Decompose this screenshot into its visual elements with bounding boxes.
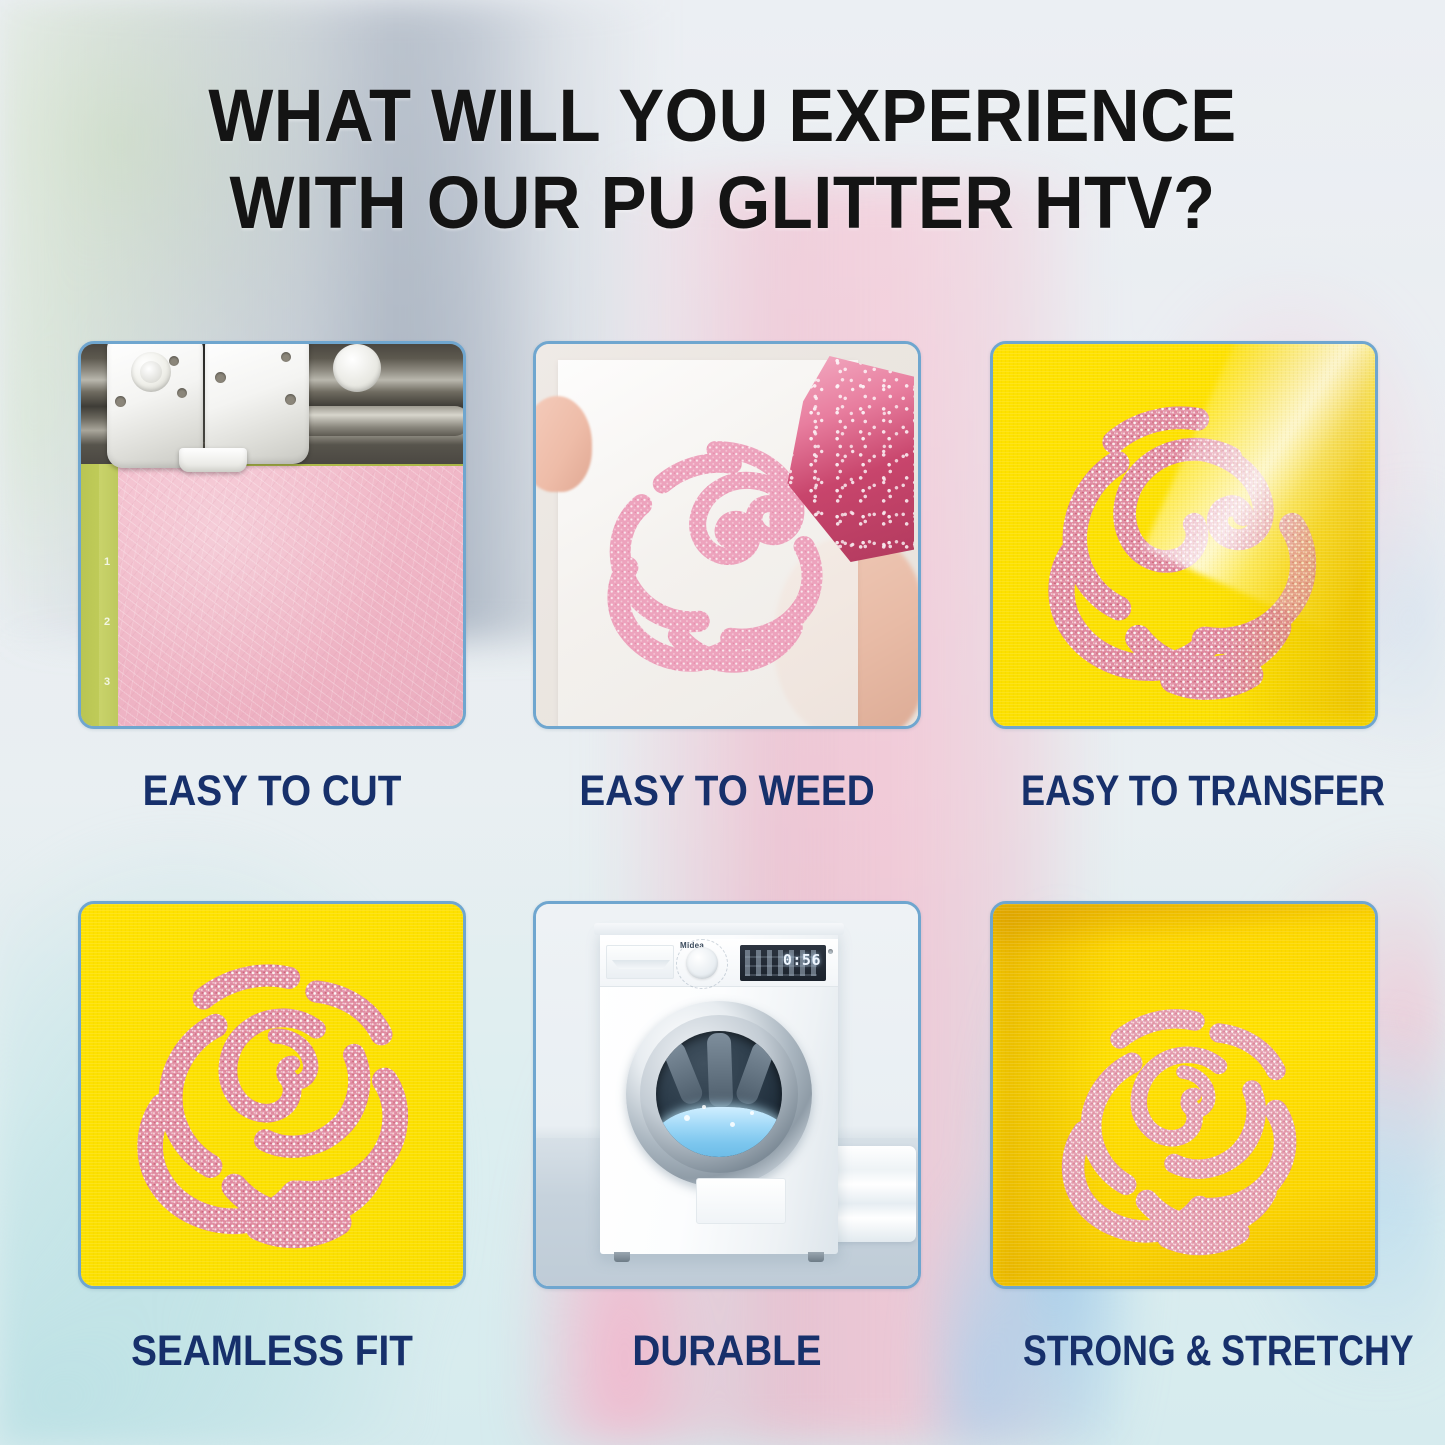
pink-glitter-vinyl-sheet — [118, 466, 466, 729]
door-inner-ring — [640, 1015, 798, 1173]
thumbnail-durable[interactable]: Midea 0:56 — [533, 901, 921, 1289]
rose-design-glitter — [101, 930, 443, 1272]
feature-grid: 1 2 3 — [0, 0, 1445, 1445]
screw-dot — [215, 372, 226, 383]
washing-machine-body: Midea 0:56 — [600, 929, 838, 1254]
cutter-carriage-head — [105, 341, 321, 478]
drum-paddle — [707, 1033, 734, 1108]
control-panel: Midea 0:56 — [600, 939, 838, 987]
carriage-right-housing — [205, 341, 309, 464]
screw-dot — [281, 352, 291, 362]
scene-stretchy-fabric — [993, 904, 1375, 1286]
fabric-shading-right — [1225, 344, 1375, 726]
bubble — [750, 1111, 754, 1115]
bubble — [684, 1115, 690, 1121]
display-time-value: 0:56 — [783, 951, 821, 969]
tool-holder-knob — [131, 352, 171, 392]
door-outer-ring[interactable] — [626, 1001, 812, 1187]
screw-dot — [115, 396, 126, 407]
machine-top-lid — [594, 923, 844, 935]
thumbnail-easy-to-transfer[interactable] — [990, 341, 1378, 729]
screw-dot — [177, 388, 187, 398]
display-screen: 0:56 — [740, 945, 826, 981]
screw-dot — [169, 356, 179, 366]
feature-cell-seamless-fit: SEAMLESS FIT — [78, 901, 466, 1376]
carriage-foot — [179, 448, 247, 472]
blade-housing-dial — [333, 344, 381, 392]
thumbnail-strong-and-stretchy[interactable] — [990, 901, 1378, 1289]
caption-strong-and-stretchy: STRONG & STRETCHY — [1023, 1327, 1345, 1376]
bubble — [730, 1122, 735, 1127]
water-in-drum — [656, 1107, 782, 1157]
scene-seamless-fit — [81, 904, 463, 1286]
infographic-page: WHAT WILL YOU EXPERIENCE WITH OUR PU GLI… — [0, 0, 1445, 1445]
caption-seamless-fit: SEAMLESS FIT — [97, 1327, 446, 1376]
fabric-fold-highlight — [990, 901, 1378, 1027]
feature-cell-easy-to-transfer: EASY TO TRANSFER — [990, 341, 1378, 816]
machine-foot — [808, 1252, 824, 1262]
feature-cell-durable: Midea 0:56 — [533, 901, 921, 1376]
detergent-drawer[interactable] — [606, 945, 674, 979]
caption-easy-to-cut: EASY TO CUT — [97, 767, 446, 816]
fabric-shading-left — [993, 904, 1113, 1286]
thumbnail-easy-to-weed[interactable] — [533, 341, 921, 729]
bubble — [702, 1105, 706, 1109]
drum-paddle — [734, 1039, 777, 1107]
feature-cell-easy-to-weed: EASY TO WEED — [533, 341, 921, 816]
thumbnail-easy-to-cut[interactable]: 1 2 3 — [78, 341, 466, 729]
power-indicator — [828, 949, 833, 954]
drum-paddle — [661, 1039, 705, 1107]
scene-washing-machine: Midea 0:56 — [536, 904, 918, 1286]
carrier-sheet-peeling-edge — [1143, 341, 1378, 634]
program-dial[interactable] — [686, 947, 718, 979]
rose-design-glitter — [1007, 372, 1357, 722]
door-glass — [656, 1031, 782, 1157]
caption-easy-to-weed: EASY TO WEED — [552, 767, 901, 816]
filter-access-hatch[interactable] — [696, 1178, 786, 1224]
machine-foot — [614, 1252, 630, 1262]
scene-transfer-on-yellow-fabric — [993, 344, 1375, 726]
ruler-mark-3: 3 — [104, 676, 110, 688]
scene-vinyl-cutter: 1 2 3 — [81, 344, 463, 726]
scene-weeding — [536, 344, 918, 726]
ruler-mark-2: 2 — [104, 616, 110, 628]
caption-easy-to-transfer: EASY TO TRANSFER — [1021, 767, 1347, 816]
ruler-mark-1: 1 — [104, 556, 110, 568]
feature-cell-easy-to-cut: 1 2 3 — [78, 341, 466, 816]
thumbnail-seamless-fit[interactable] — [78, 901, 466, 1289]
screw-dot — [285, 394, 296, 405]
rose-design-glitter — [1027, 976, 1327, 1276]
feature-cell-strong-and-stretchy: STRONG & STRETCHY — [990, 901, 1378, 1376]
caption-durable: DURABLE — [552, 1327, 901, 1376]
machine-roller-bar — [296, 406, 466, 436]
